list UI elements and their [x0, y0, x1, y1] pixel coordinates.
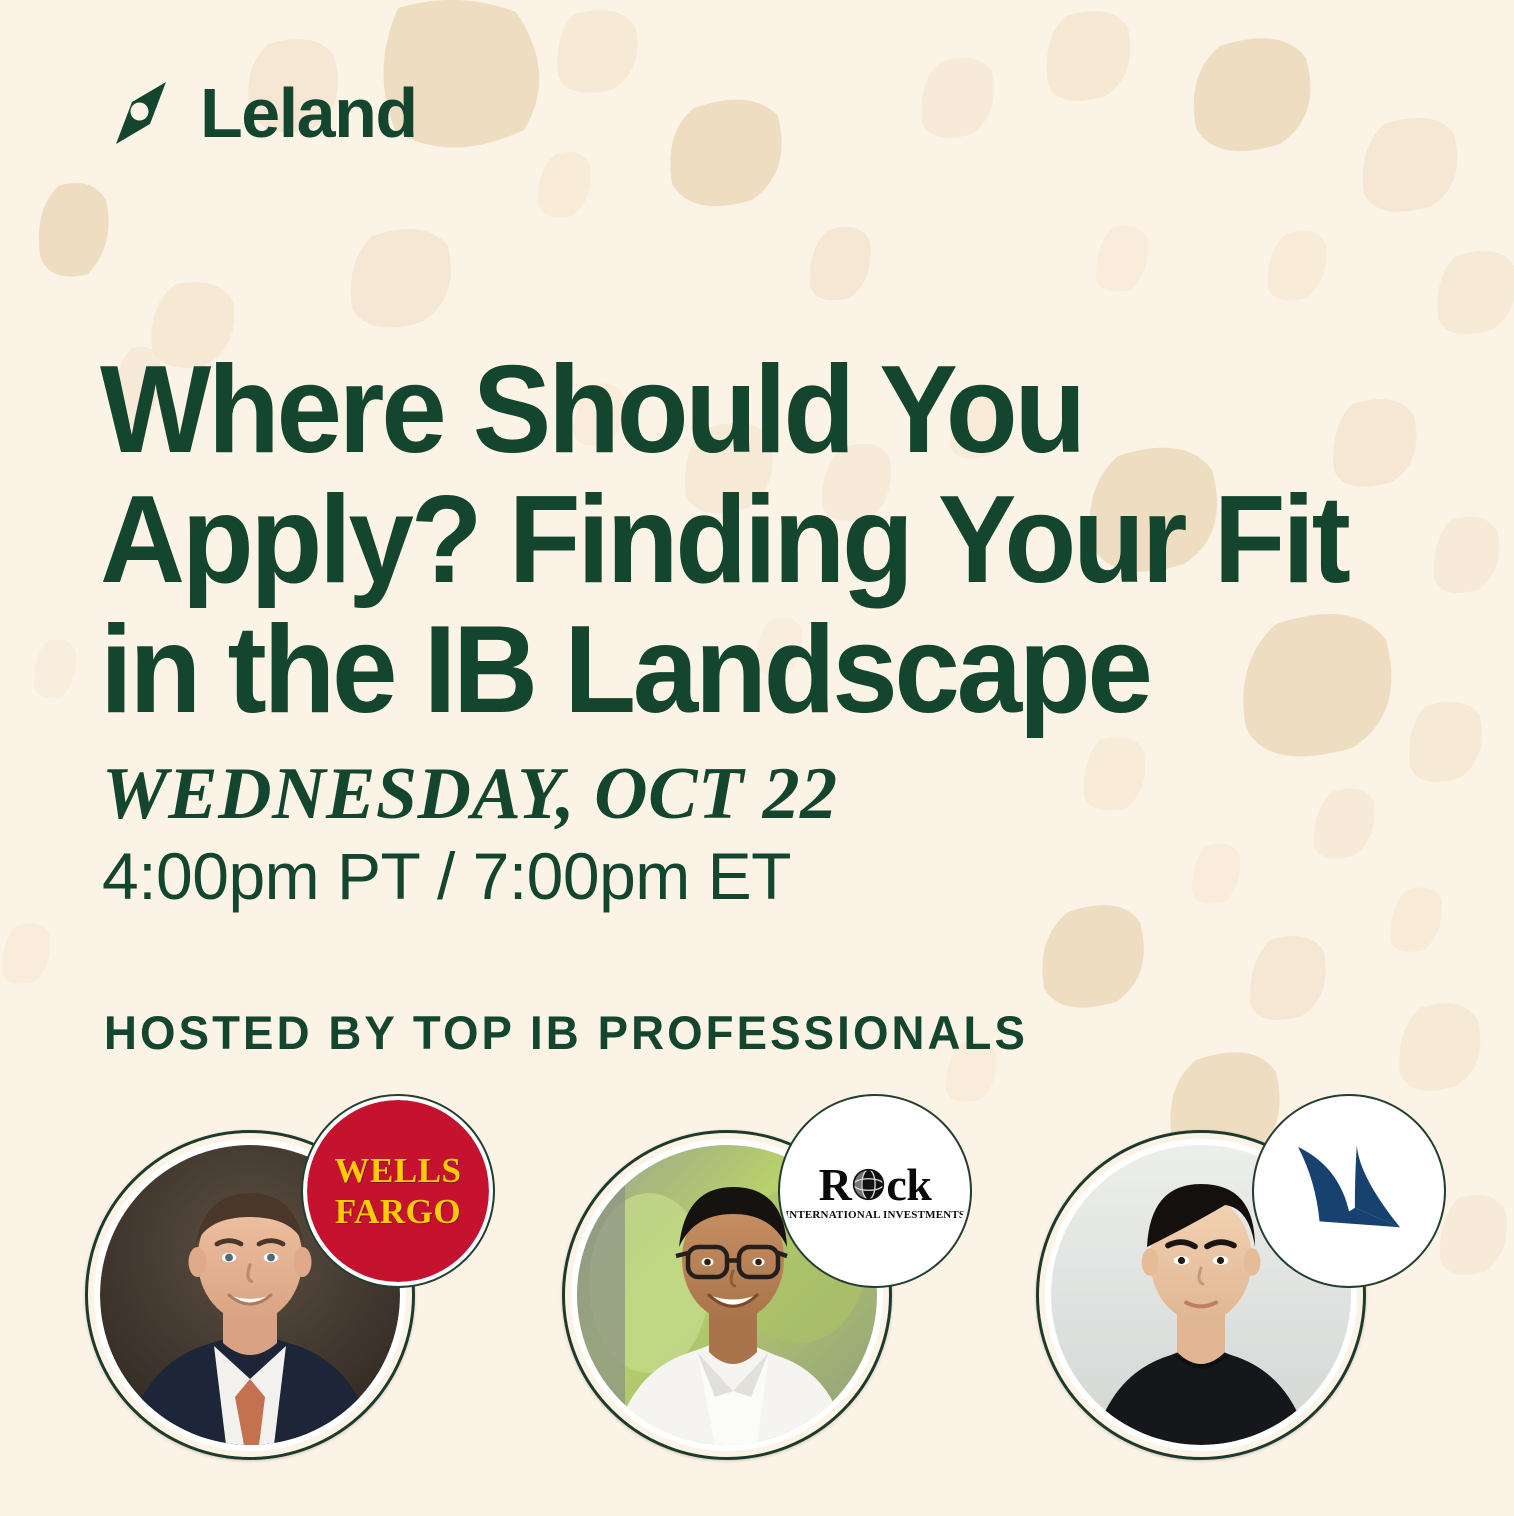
- speaker-item[interactable]: WELLS FARGO: [85, 1130, 415, 1460]
- wells-fargo-line-2: FARGO: [335, 1194, 462, 1229]
- headline-line-1: Where Should You: [100, 345, 1392, 475]
- speaker-list: WELLS FARGO: [0, 1110, 1514, 1516]
- globe-icon: [852, 1168, 885, 1201]
- navy-sail-logo: [1290, 1137, 1408, 1245]
- webinar-poster: Leland Where Should You Apply? Finding Y…: [0, 0, 1514, 1516]
- speaker-item[interactable]: [1036, 1130, 1366, 1460]
- headline-line-3: in the IB Landscape: [100, 605, 1392, 735]
- brand-logo[interactable]: Leland: [104, 76, 417, 150]
- event-date: WEDNESDAY, OCT 22: [102, 755, 838, 833]
- company-badge[interactable]: [1254, 1096, 1444, 1286]
- leland-diamond-icon: [104, 76, 178, 150]
- brand-name: Leland: [200, 78, 417, 148]
- rock-word-start: R: [819, 1162, 852, 1208]
- company-badge[interactable]: WELLS FARGO: [303, 1096, 493, 1286]
- sail-mark-icon: [1290, 1137, 1408, 1245]
- company-badge[interactable]: R ck INTERNATIONAL INVESTMENTS: [780, 1096, 970, 1286]
- hosted-by-label: HOSTED BY TOP IB PROFESSIONALS: [104, 1005, 1028, 1060]
- event-time: 4:00pm PT / 7:00pm ET: [102, 841, 838, 912]
- wells-fargo-line-1: WELLS: [335, 1153, 462, 1188]
- rock-subtitle: INTERNATIONAL INVESTMENTS: [785, 1210, 966, 1221]
- rock-word-end: ck: [886, 1162, 931, 1208]
- page-title: Where Should You Apply? Finding Your Fit…: [100, 345, 1392, 736]
- headline-line-2: Apply? Finding Your Fit: [100, 475, 1392, 605]
- wells-fargo-logo: WELLS FARGO: [335, 1153, 462, 1229]
- speaker-item[interactable]: R ck INTERNATIONAL INVESTMENTS: [562, 1130, 892, 1460]
- event-datetime: WEDNESDAY, OCT 22 4:00pm PT / 7:00pm ET: [102, 755, 838, 913]
- rock-international-logo: R ck INTERNATIONAL INVESTMENTS: [785, 1162, 966, 1221]
